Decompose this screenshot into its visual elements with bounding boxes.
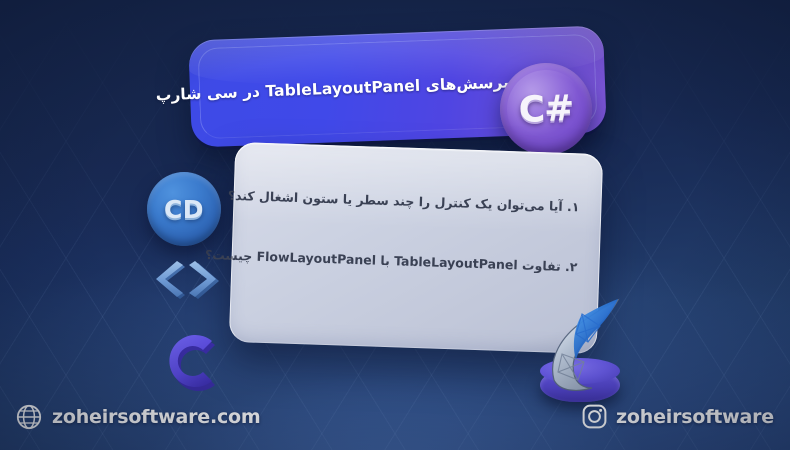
sql-server-swoosh-svg (518, 292, 640, 404)
cd-disc-icon: CD (147, 172, 221, 246)
letter-c-3d-icon (156, 325, 228, 397)
instagram-label: zoheirsoftware (616, 406, 774, 428)
questions-list: ۱. آیا می‌توان یک کنترل را چند سطر یا ست… (251, 187, 579, 278)
code-brackets-svg (152, 258, 224, 304)
poster-canvas: پرسش‌های TableLayoutPanel در سی شارپ C# … (0, 0, 790, 450)
website-label: zoheirsoftware.com (52, 406, 260, 428)
code-brackets-icon (152, 258, 224, 304)
list-item: ۲. تفاوت TableLayoutPanel با FlowLayoutP… (251, 247, 577, 278)
list-item: ۱. آیا می‌توان یک کنترل را چند سطر یا ست… (253, 187, 579, 218)
csharp-badge-label: C# (518, 88, 574, 131)
instagram-link[interactable]: zoheirsoftware (582, 404, 774, 429)
website-link[interactable]: zoheirsoftware.com (16, 404, 260, 430)
cd-disc-label: CD (164, 195, 204, 224)
sql-server-logo-icon (518, 292, 640, 404)
globe-www-icon (16, 404, 42, 430)
instagram-icon (582, 404, 607, 429)
page-title: پرسش‌های TableLayoutPanel در سی شارپ (204, 72, 510, 104)
letter-c-svg (156, 325, 228, 397)
